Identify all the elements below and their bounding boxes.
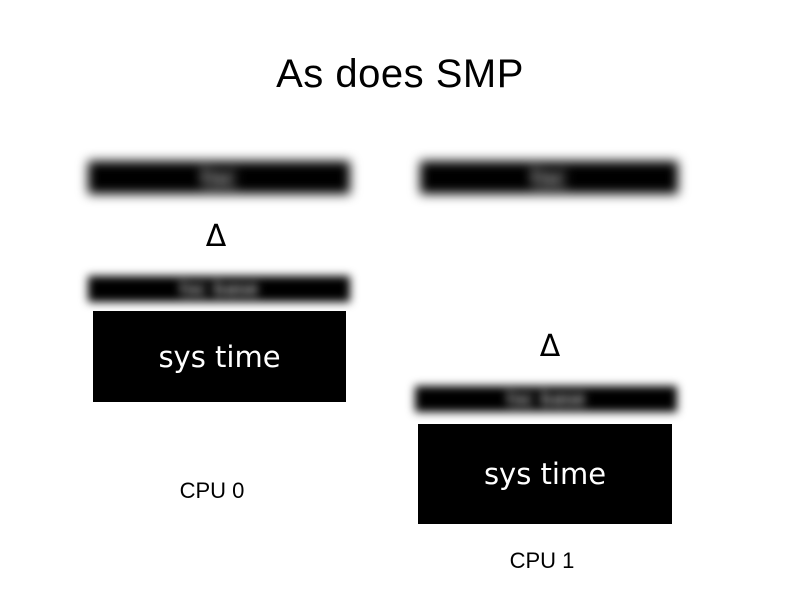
cpu0-caption: CPU 0: [142, 478, 282, 504]
cpu1-delta-icon: Δ: [528, 332, 572, 362]
cpu1-tsc-bar: tsc: [420, 161, 678, 194]
cpu1-tsc-base-bar-label: tsc base: [506, 388, 585, 410]
cpu0-tsc-base-bar: tsc base: [88, 276, 350, 302]
cpu1-caption: CPU 1: [472, 548, 612, 574]
cpu1-sys-time-label: sys time: [484, 457, 606, 491]
page-title: As does SMP: [0, 52, 800, 96]
cpu1-sys-time-block: sys time: [418, 424, 672, 524]
cpu0-tsc-bar: tsc: [88, 161, 350, 194]
cpu0-delta-icon: Δ: [194, 222, 238, 252]
cpu0-sys-time-block: sys time: [93, 311, 346, 402]
cpu0-sys-time-label: sys time: [158, 340, 280, 374]
slide-canvas: As does SMP tsc Δ tsc base sys time CPU …: [0, 0, 800, 600]
cpu1-tsc-bar-label: tsc: [531, 163, 568, 192]
cpu1-tsc-base-bar: tsc base: [415, 386, 677, 412]
cpu0-tsc-bar-label: tsc: [201, 163, 238, 192]
cpu0-tsc-base-bar-label: tsc base: [179, 278, 258, 300]
